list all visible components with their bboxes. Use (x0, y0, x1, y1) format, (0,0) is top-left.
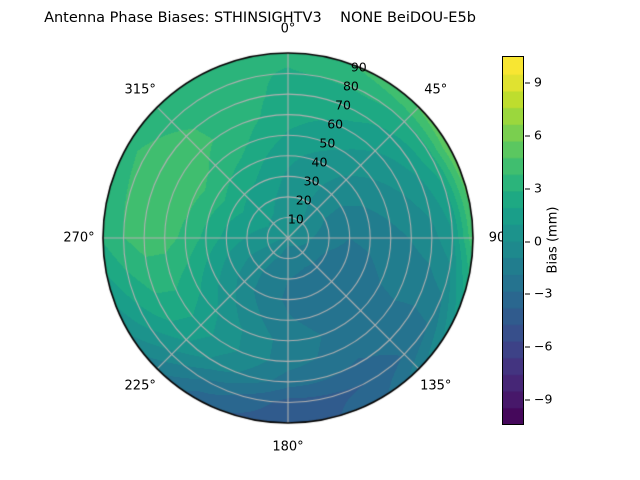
angular-tick-270: 270° (63, 231, 94, 246)
radial-tick-50: 50 (319, 136, 335, 151)
radial-tick-20: 20 (296, 193, 312, 208)
colorbar-tick-6: −9 (525, 391, 585, 406)
radial-tick-40: 40 (312, 155, 328, 170)
tick-mark (525, 136, 530, 137)
colorbar-tick-4: −3 (525, 286, 585, 301)
tick-label: 6 (534, 128, 542, 143)
tick-mark (525, 346, 530, 347)
tick-label: −6 (534, 338, 552, 353)
tick-mark (525, 294, 530, 295)
angular-tick-180: 180° (272, 440, 303, 455)
colorbar-axis-label: Bias (mm) (546, 207, 561, 274)
angular-tick-315: 315° (125, 83, 156, 98)
tick-label: 0 (534, 233, 542, 248)
radial-tick-60: 60 (327, 117, 343, 132)
radial-tick-80: 80 (343, 79, 359, 94)
colorbar-tick-5: −6 (525, 338, 585, 353)
colorbar-tick-0: 9 (525, 75, 585, 90)
tick-mark (525, 83, 530, 84)
colorbar-tick-2: 3 (525, 180, 585, 195)
radial-tick-90: 90 (351, 60, 367, 75)
radial-tick-30: 30 (304, 174, 320, 189)
angular-tick-45: 45° (424, 83, 447, 98)
angular-tick-225: 225° (125, 378, 156, 393)
tick-label: 9 (534, 75, 542, 90)
angular-tick-0: 0° (281, 22, 296, 37)
tick-label: −3 (534, 286, 552, 301)
tick-mark (525, 241, 530, 242)
colorbar-gradient (503, 57, 523, 424)
angular-tick-135: 135° (420, 378, 451, 393)
tick-mark (525, 399, 530, 400)
tick-label: −9 (534, 391, 552, 406)
colorbar (502, 56, 524, 425)
colorbar-tick-1: 6 (525, 128, 585, 143)
radial-tick-10: 10 (288, 212, 304, 227)
figure-canvas: Antenna Phase Biases: STHINSIGHTV3 NONE … (0, 0, 640, 480)
tick-mark (525, 188, 530, 189)
tick-label: 3 (534, 180, 542, 195)
radial-tick-70: 70 (335, 98, 351, 113)
